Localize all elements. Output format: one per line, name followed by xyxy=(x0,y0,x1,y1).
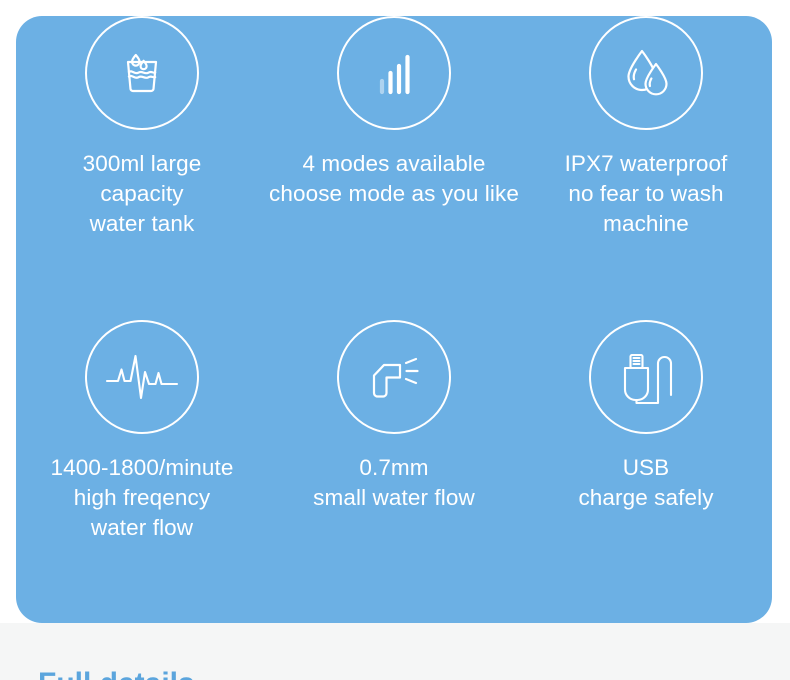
product-feature-page: 300ml large capacity water tank 4 mode xyxy=(0,0,790,680)
feature-card: 300ml large capacity water tank 4 mode xyxy=(16,16,772,623)
caption-line: charge safely xyxy=(578,483,713,513)
water-droplets-icon xyxy=(589,16,703,130)
feature-caption: IPX7 waterproof no fear to wash machine xyxy=(565,149,728,239)
water-glass-icon xyxy=(85,16,199,130)
caption-line: small water flow xyxy=(313,483,475,513)
caption-line: capacity xyxy=(83,179,202,209)
spray-nozzle-icon xyxy=(337,320,451,434)
next-section-heading: Full details xyxy=(38,669,338,680)
caption-line: choose mode as you like xyxy=(269,179,519,209)
caption-line: high freqency xyxy=(51,483,234,513)
feature-caption: USB charge safely xyxy=(578,453,713,513)
caption-line: 4 modes available xyxy=(269,149,519,179)
caption-line: USB xyxy=(578,453,713,483)
caption-line: IPX7 waterproof xyxy=(565,149,728,179)
feature-item-modes: 4 modes available choose mode as you lik… xyxy=(268,16,520,320)
feature-caption: 0.7mm small water flow xyxy=(313,453,475,513)
feature-grid: 300ml large capacity water tank 4 mode xyxy=(16,16,772,623)
caption-line: water flow xyxy=(51,513,234,543)
feature-item-usb: USB charge safely xyxy=(520,320,772,624)
feature-item-waterproof: IPX7 waterproof no fear to wash machine xyxy=(520,16,772,320)
feature-item-water-tank: 300ml large capacity water tank xyxy=(16,16,268,320)
caption-line: 1400-1800/minute xyxy=(51,453,234,483)
feature-caption: 300ml large capacity water tank xyxy=(83,149,202,239)
caption-line: 300ml large xyxy=(83,149,202,179)
heartbeat-pulse-icon xyxy=(85,320,199,434)
feature-item-water-flow: 0.7mm small water flow xyxy=(268,320,520,624)
usb-plug-icon xyxy=(589,320,703,434)
caption-line: no fear to wash xyxy=(565,179,728,209)
caption-line: 0.7mm xyxy=(313,453,475,483)
feature-caption: 4 modes available choose mode as you lik… xyxy=(269,149,519,209)
bar-chart-modes-icon xyxy=(337,16,451,130)
caption-line: machine xyxy=(565,209,728,239)
feature-item-frequency: 1400-1800/minute high freqency water flo… xyxy=(16,320,268,624)
caption-line: water tank xyxy=(83,209,202,239)
feature-caption: 1400-1800/minute high freqency water flo… xyxy=(51,453,234,543)
